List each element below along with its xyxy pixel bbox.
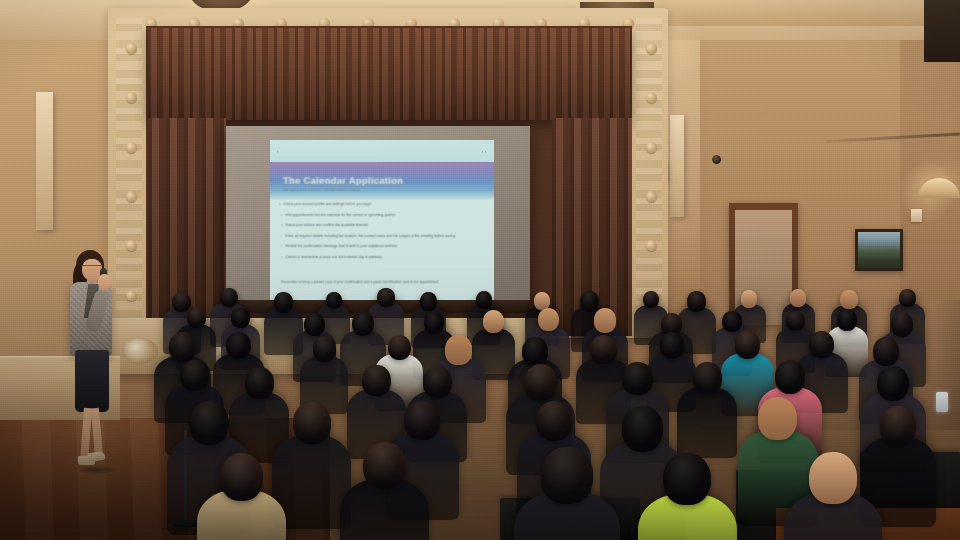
audience-member-head — [536, 401, 572, 441]
audience-member-head — [226, 332, 251, 360]
audience-member-head — [189, 401, 229, 446]
audience-member-head — [541, 447, 592, 503]
bullet-dot-icon: • — [281, 213, 282, 218]
audience-member-head — [837, 309, 858, 332]
audience-member-head — [741, 290, 757, 307]
audience-member-head — [809, 331, 834, 358]
audience-member-head — [622, 362, 652, 395]
slide-top-right-mark: ▪ ▪ — [482, 149, 487, 154]
stage-valance-curtain — [148, 28, 630, 120]
audience-member-head — [693, 362, 722, 394]
audience-member-head — [293, 402, 331, 444]
audience-member-head — [538, 308, 559, 331]
audience-member-head — [899, 289, 916, 307]
slide-bullet: •Check your account profile and settings… — [279, 202, 485, 207]
audience-member-head — [873, 337, 899, 366]
audience-member-head — [877, 366, 909, 402]
thermostat-icon[interactable] — [911, 209, 922, 222]
audience-member-head — [735, 331, 760, 359]
audience-member-head — [809, 452, 856, 504]
audience-member-head — [388, 335, 411, 360]
audience-member-head — [313, 336, 336, 362]
bullet-dot-icon: • — [281, 234, 282, 239]
audience-member-head — [643, 291, 659, 309]
audience-member-head — [362, 365, 390, 396]
slide-bullet-text: Add appointments into the calendar for t… — [285, 213, 395, 218]
audience-member-head — [180, 360, 209, 392]
audience-member-head — [590, 335, 617, 364]
slide-bullet-text: Enter all required details including the… — [285, 234, 455, 239]
slide-subtitle: Managing your schedule with the shared p… — [283, 188, 481, 192]
audience-member-head — [220, 288, 238, 307]
audience-member-head — [775, 360, 806, 394]
audience-member-head — [423, 366, 452, 398]
slide-bullet: •Review the confirmation message that is… — [281, 244, 485, 249]
audience-member-head — [326, 292, 342, 309]
audience-member-head — [274, 292, 293, 313]
audience-member-head — [622, 406, 664, 452]
audience-member-head — [660, 332, 684, 358]
audience-member-head — [483, 310, 504, 333]
audience-member — [197, 453, 286, 540]
slide-bullet: •Select your advisor and confirm the ava… — [281, 223, 485, 228]
bullet-dot-icon: • — [281, 244, 282, 249]
audience-member-head — [231, 308, 250, 329]
right-wall-panel — [670, 115, 684, 217]
audience-member-head — [404, 401, 440, 440]
audience-member-head — [722, 311, 742, 332]
audience-member-torso — [677, 387, 737, 458]
bullet-dot-icon: • — [279, 202, 280, 207]
slide-title: The Calendar Application — [283, 176, 483, 187]
slide-bullet-text: Review the confirmation message that is … — [285, 244, 397, 249]
audience-member-head — [220, 453, 263, 500]
audience-member — [340, 442, 429, 540]
slide-top-left-mark: ▪ — [277, 149, 279, 154]
audience-member-head — [352, 311, 375, 336]
audience-member-head — [524, 364, 557, 401]
audience-member-head — [840, 290, 857, 309]
audience-member — [784, 452, 882, 540]
smartphone-icon — [936, 392, 948, 412]
audience-member-head — [377, 288, 394, 307]
audience-member-head — [187, 307, 206, 328]
audience-member-head — [891, 312, 914, 337]
audience-member-head — [245, 367, 274, 399]
audience-member-head — [594, 308, 616, 332]
audience-member — [638, 453, 737, 540]
audience-member-head — [424, 311, 445, 334]
audience-member-head — [445, 335, 471, 364]
audience-member-head — [304, 313, 325, 336]
security-camera-icon — [712, 155, 721, 164]
dark-window — [924, 0, 960, 62]
audience-member-head — [790, 289, 806, 307]
audience-member — [514, 447, 620, 540]
audience-member-head — [169, 332, 196, 362]
left-wall-panel — [36, 92, 53, 230]
seated-audience — [0, 252, 960, 540]
audience-member-head — [687, 291, 706, 312]
slide-bullet-text: Select your advisor and confirm the avai… — [285, 223, 368, 228]
audience-member-head — [363, 442, 406, 489]
audience-member-head — [758, 397, 797, 440]
audience-member-head — [663, 453, 711, 506]
slide-header-bar: ▪ ▪ ▪ — [270, 140, 494, 162]
audience-member-head — [476, 291, 492, 309]
audience-member-head — [880, 406, 917, 446]
slide-bullet-text: Check your account profile and settings … — [283, 202, 371, 207]
slide-bullet: •Enter all required details including th… — [281, 234, 485, 239]
audience-member-head — [522, 337, 548, 366]
audience-member — [677, 362, 737, 465]
slide-bullet: •Add appointments into the calendar for … — [281, 213, 485, 218]
ceiling-right-section — [640, 0, 960, 26]
lecture-hall-photo: ▪ ▪ ▪ The Calendar Application Managing … — [0, 0, 960, 540]
audience-member-head — [420, 292, 437, 311]
bullet-dot-icon: • — [281, 223, 282, 228]
audience-member-head — [786, 311, 805, 332]
